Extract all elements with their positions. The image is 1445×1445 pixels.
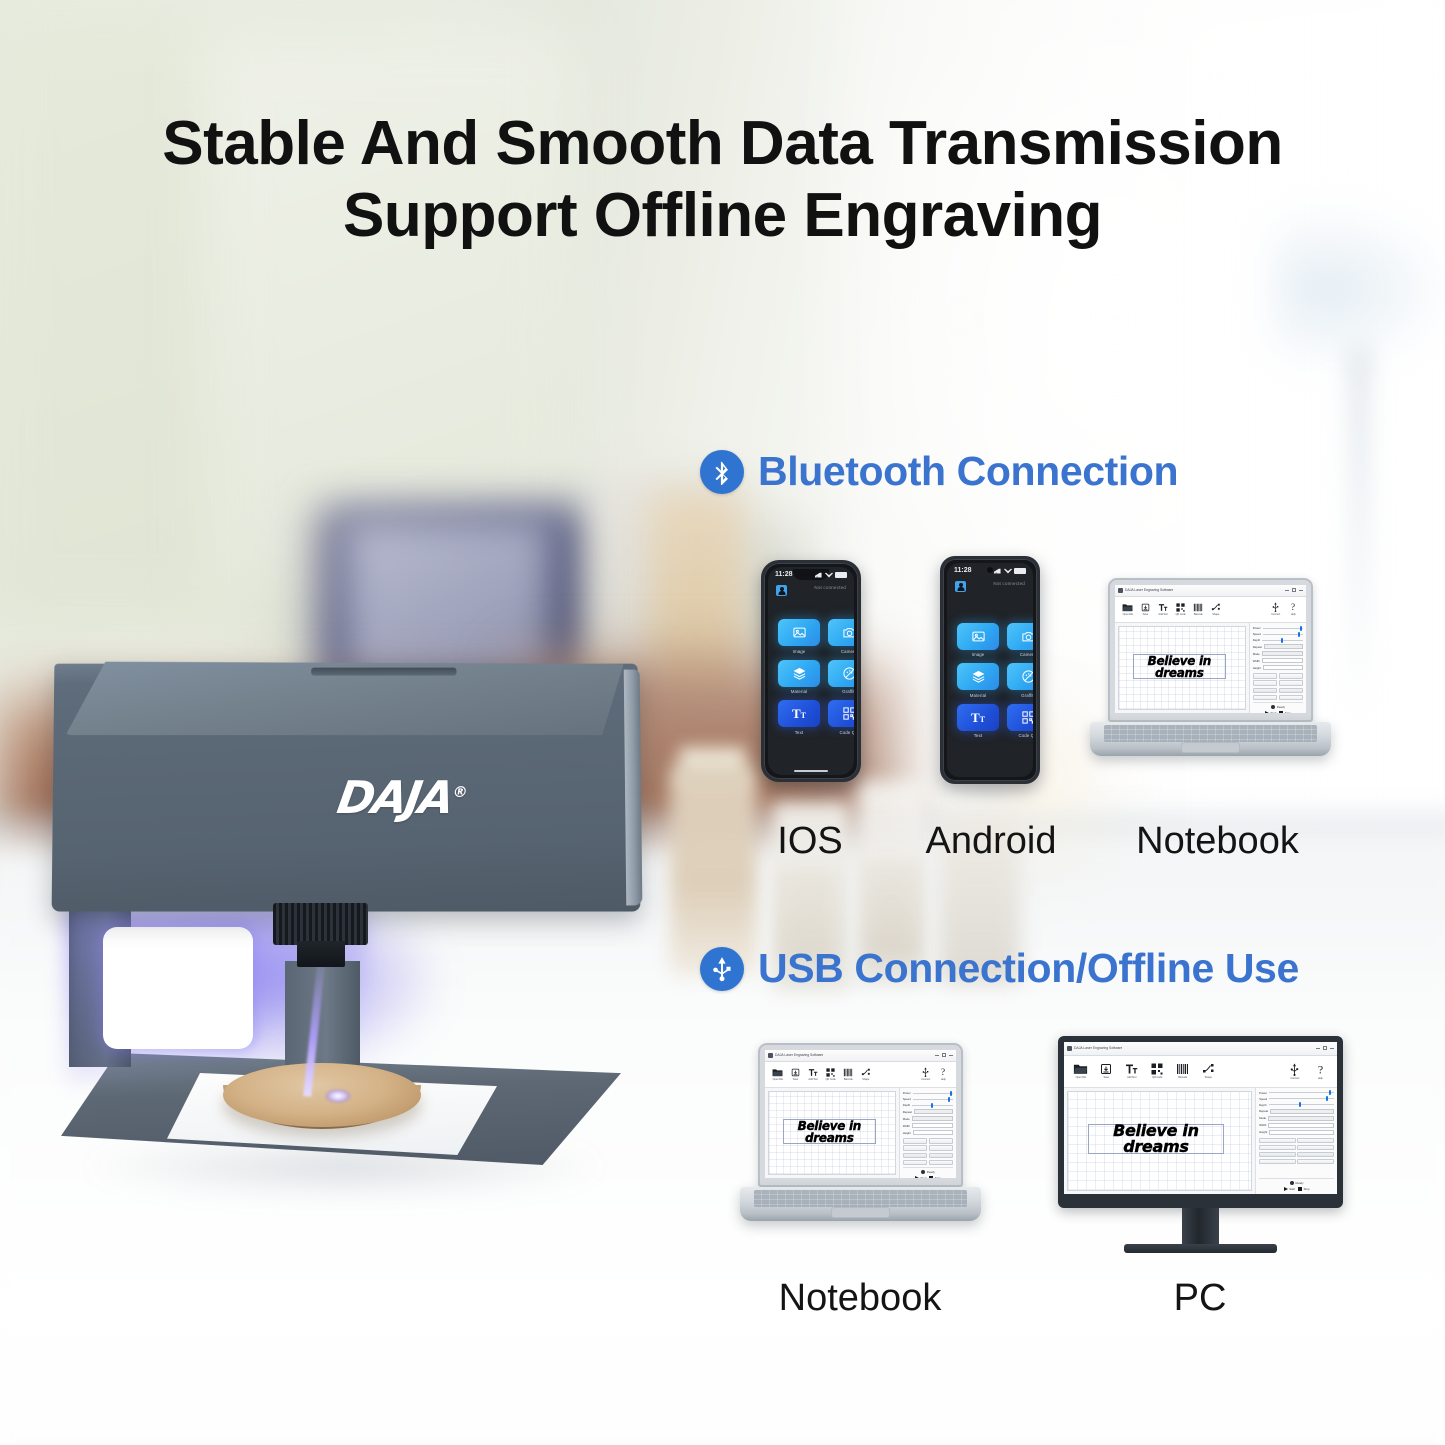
slider-speed[interactable]: Speed [903, 1097, 953, 1101]
slider-speed[interactable]: Speed [1259, 1097, 1334, 1101]
camera-icon [828, 619, 854, 646]
canvas-art-line-2: dreams [1148, 667, 1211, 679]
app-tile-graffiti[interactable]: Graffiti [828, 660, 854, 695]
window-title: DAJA Laser Engraving Software [1074, 1046, 1122, 1050]
qrcode-icon [826, 1068, 835, 1077]
field-mode[interactable]: Mode [903, 1116, 953, 1121]
app-tile-material[interactable]: Material [957, 663, 999, 698]
toolbar-label: Help [1318, 1077, 1323, 1080]
layers-icon [957, 663, 999, 690]
usb-section-label: USB Connection/Offline Use [758, 945, 1299, 992]
toolbar-label: Save [1103, 1076, 1109, 1079]
laptop-trackpad[interactable] [831, 1207, 889, 1218]
panel-button[interactable] [929, 1145, 953, 1151]
toolbar-label: Connect [1271, 613, 1280, 616]
user-avatar-icon[interactable] [955, 581, 966, 592]
app-toolbar: Open File Save Add Text QR Code Barcode … [1115, 597, 1306, 624]
close-icon[interactable] [1330, 1048, 1334, 1049]
status-dot-icon [921, 1170, 925, 1174]
design-canvas[interactable]: Believe in dreams [1118, 626, 1246, 710]
start-label: Start [1271, 711, 1277, 713]
panel-button[interactable] [1253, 680, 1277, 686]
selection-box[interactable]: Believe in dreams [1088, 1124, 1224, 1154]
panel-button[interactable] [1259, 1145, 1296, 1151]
stop-label: Stop [935, 1176, 941, 1178]
toolbar-label: Help [1291, 613, 1296, 616]
stop-label: Stop [1304, 1187, 1310, 1191]
slider-power[interactable]: Power [1259, 1091, 1334, 1095]
close-icon[interactable] [949, 1055, 953, 1056]
stop-button[interactable]: Stop [1279, 711, 1290, 713]
tile-label: Text [974, 733, 982, 738]
toolbar-label: Open File [1076, 1076, 1086, 1079]
play-icon [915, 1176, 919, 1178]
run-status: Ready [1253, 705, 1303, 709]
laptop-base [1090, 722, 1332, 756]
app-tile-material[interactable]: Material [778, 660, 820, 695]
text-icon: TT [957, 704, 999, 731]
node-edit-icon [1211, 603, 1221, 612]
slider-label: Depth [1253, 638, 1260, 642]
run-actions: Start Stop [903, 1176, 953, 1178]
toolbar-add-text[interactable]: Add Text [804, 1068, 822, 1081]
settings-panel: Power Speed Depth Repeat Mode Width Heig… [1255, 1088, 1337, 1194]
app-body: Believe in dreams Power Speed Depth Repe… [1064, 1088, 1337, 1194]
field-label: Width [1259, 1123, 1266, 1127]
node-edit-icon [861, 1068, 871, 1077]
field-label: Width [903, 1124, 910, 1128]
canvas-area: Believe in dreams [1064, 1088, 1255, 1194]
toolbar-help[interactable]: ?Help [1308, 1063, 1333, 1080]
panel-button[interactable] [929, 1160, 953, 1166]
canvas-art-line-2: dreams [798, 1132, 861, 1144]
daja-brand-logo: DAJA® [334, 771, 471, 824]
panel-button[interactable] [1259, 1152, 1296, 1158]
toolbar-label: Barcode [844, 1078, 853, 1081]
app-tile-codeqr[interactable]: Code QR [1007, 704, 1033, 739]
stop-icon [929, 1176, 933, 1178]
section-header-bluetooth: Bluetooth Connection [700, 448, 1178, 495]
toolbar-connect[interactable]: Connect [1267, 602, 1285, 616]
minimize-icon[interactable] [935, 1055, 939, 1056]
toolbar-help[interactable]: ?Help [934, 1067, 952, 1081]
start-button[interactable]: Start [915, 1176, 926, 1178]
palette-icon [828, 660, 854, 687]
brand-text: DAJA [334, 771, 456, 824]
play-icon [1284, 1187, 1288, 1191]
slider-depth[interactable]: Depth [903, 1103, 953, 1107]
run-status-label: Ready [927, 1170, 935, 1174]
trademark-symbol: ® [451, 783, 469, 801]
usb-icon [700, 947, 744, 991]
field-label: Repeat [1259, 1109, 1268, 1113]
run-status-label: Ready [1296, 1181, 1304, 1185]
device-label-pc: PC [1110, 1277, 1290, 1320]
page-title: Stable And Smooth Data Transmission Supp… [0, 108, 1445, 252]
question-icon: ? [1289, 602, 1297, 612]
toolbar-qrcode[interactable]: QR Code [1144, 1063, 1169, 1079]
toolbar-label: Open File [773, 1078, 783, 1081]
engraver-right-edge [624, 670, 643, 906]
notebook-usb-mockup: DAJA Laser Engraving Software Open File … [758, 1043, 963, 1221]
status-bar-time: 11:28 [775, 571, 793, 578]
laser-engraver-product: DAJA® [45, 645, 665, 1215]
stop-icon [1298, 1187, 1302, 1191]
toolbar-label: QR Code [826, 1078, 836, 1081]
app-tile-image[interactable]: Image [778, 619, 820, 654]
usb-icon [1272, 602, 1279, 612]
panel-button[interactable] [903, 1138, 927, 1144]
minimize-icon[interactable] [1316, 1048, 1320, 1049]
text-tool-icon [1125, 1063, 1138, 1075]
field-repeat[interactable]: Repeat [903, 1109, 953, 1114]
canvas-art-line-1: Believe in [1148, 655, 1211, 667]
node-edit-icon [1202, 1063, 1215, 1075]
device-label-ios: IOS [760, 820, 860, 863]
panel-button[interactable] [1297, 1145, 1334, 1151]
minimize-icon[interactable] [1285, 590, 1289, 591]
toolbar-connect[interactable]: Connect [1282, 1063, 1307, 1080]
app-tile-graffiti[interactable]: Graffiti [1007, 663, 1033, 698]
panel-button[interactable] [1297, 1152, 1334, 1158]
engraving-software-window: DAJA Laser Engraving Software Open File … [1115, 585, 1306, 713]
close-icon[interactable] [1299, 590, 1303, 591]
laptop-keyboard[interactable] [1104, 725, 1317, 741]
start-label: Start [1289, 1187, 1295, 1191]
slider-label: Power [903, 1091, 911, 1095]
panel-button[interactable] [1279, 688, 1303, 694]
window-title: DAJA Laser Engraving Software [775, 1053, 823, 1057]
tile-label: Graffiti [842, 689, 854, 694]
toolbar-save[interactable]: Save [1093, 1063, 1118, 1079]
run-actions: Start Stop [1259, 1187, 1334, 1191]
maximize-icon[interactable] [1292, 588, 1296, 592]
headline-line-2: Support Offline Engraving [0, 180, 1445, 252]
engraving-software-window: DAJA Laser Engraving Software Open File … [765, 1050, 956, 1178]
toolbar-label: Connect [1290, 1077, 1299, 1080]
app-header: Not connected [947, 578, 1033, 592]
field-height[interactable]: Height [1259, 1130, 1334, 1135]
app-header: Not connected [768, 582, 854, 596]
panel-button[interactable] [1259, 1159, 1296, 1165]
svg-text:?: ? [1318, 1063, 1323, 1076]
app-tile-grid: Image Camera Material Graffiti TT Text [768, 596, 854, 766]
panel-button[interactable] [1253, 695, 1277, 701]
slider-depth[interactable]: Depth [1253, 638, 1303, 642]
toolbar-save[interactable]: Save [1137, 603, 1155, 616]
app-tile-camera[interactable]: Camera [1007, 623, 1033, 658]
laptop-trackpad[interactable] [1181, 742, 1239, 753]
ios-phone-mockup: 11:28 Not connected Image Camera [761, 560, 861, 782]
run-status: Ready [1259, 1181, 1334, 1185]
download-icon [1100, 1063, 1112, 1075]
app-toolbar: Open File Save Add Text QR Code Barcode … [765, 1062, 956, 1089]
play-icon [1265, 711, 1269, 713]
device-label-android: Android [905, 820, 1077, 863]
monitor-stand-stem [1182, 1208, 1219, 1244]
slider-power[interactable]: Power [903, 1091, 953, 1095]
panel-button[interactable] [1279, 695, 1303, 701]
design-canvas[interactable]: Believe in dreams [1067, 1091, 1252, 1191]
laser-lens-barrel [273, 903, 368, 945]
toolbar-label: Help [941, 1078, 946, 1081]
panel-button[interactable] [1259, 1138, 1296, 1144]
panel-button[interactable] [1279, 673, 1303, 679]
toolbar-open-file[interactable]: Open File [1119, 603, 1137, 616]
app-body: Believe in dreams Power Speed Depth Repe… [765, 1088, 956, 1178]
tile-label: Material [970, 693, 986, 698]
toolbar-shape[interactable]: Shape [1195, 1063, 1220, 1079]
run-panel: Ready Start Stop [1253, 702, 1303, 713]
toolbar-open-file[interactable]: Open File [769, 1068, 787, 1081]
toolbar-barcode[interactable]: Barcode [1170, 1063, 1195, 1079]
question-icon: ? [939, 1067, 947, 1077]
ios-home-indicator [768, 766, 854, 775]
user-avatar-icon[interactable] [776, 585, 787, 596]
field-label: Repeat [1253, 645, 1262, 649]
toolbar-label: QR Code [1176, 613, 1186, 616]
question-icon: ? [1315, 1063, 1326, 1076]
app-icon [768, 1053, 773, 1058]
slider-depth[interactable]: Depth [1259, 1103, 1334, 1107]
panel-button[interactable] [929, 1153, 953, 1159]
run-panel: Ready Start Stop [903, 1167, 953, 1178]
engraver-top-vent [312, 668, 457, 676]
toolbar-help[interactable]: ?Help [1284, 602, 1302, 616]
toolbar-barcode[interactable]: Barcode [839, 1068, 857, 1081]
section-header-usb: USB Connection/Offline Use [700, 945, 1299, 992]
laser-burn-point [325, 1089, 351, 1103]
folder-open-icon [1122, 603, 1133, 612]
toolbar-shape[interactable]: Shape [857, 1068, 875, 1081]
window-controls[interactable] [1316, 1046, 1334, 1050]
run-actions: Start Stop [1253, 711, 1303, 713]
folder-open-icon [772, 1068, 783, 1077]
status-dot-icon [1271, 705, 1275, 709]
toolbar-qrcode[interactable]: QR Code [1172, 603, 1190, 616]
panel-button[interactable] [929, 1138, 953, 1144]
field-label: Mode [1253, 652, 1260, 656]
panel-button[interactable] [903, 1160, 927, 1166]
app-tile-image[interactable]: Image [957, 623, 999, 658]
stop-button[interactable]: Stop [1298, 1187, 1309, 1191]
notebook-bluetooth-mockup: DAJA Laser Engraving Software Open File … [1108, 578, 1313, 756]
android-status-bar: 11:28 [947, 563, 1033, 578]
slider-power[interactable]: Power [1253, 626, 1303, 630]
selection-box[interactable]: Believe in dreams [783, 1119, 876, 1143]
toolbar-connect[interactable]: Connect [917, 1067, 935, 1081]
text-tool-icon [808, 1068, 818, 1077]
toolbar-add-text[interactable]: Add Text [1154, 603, 1172, 616]
design-canvas[interactable]: Believe in dreams [768, 1091, 896, 1175]
panel-button[interactable] [1253, 688, 1277, 694]
canvas-area: Believe in dreams [765, 1088, 899, 1178]
app-tile-camera[interactable]: Camera [828, 619, 854, 654]
field-height[interactable]: Height [903, 1130, 953, 1135]
field-mode[interactable]: Mode [1253, 651, 1303, 656]
panel-button[interactable] [903, 1153, 927, 1159]
slider-label: Speed [1253, 632, 1261, 636]
slider-label: Speed [1259, 1097, 1267, 1101]
field-width[interactable]: Width [903, 1123, 953, 1128]
toolbar-label: Barcode [1194, 613, 1203, 616]
svg-text:?: ? [1291, 602, 1295, 612]
stop-icon [1279, 711, 1283, 713]
window-title: DAJA Laser Engraving Software [1125, 588, 1173, 592]
toolbar-label: Shape [1212, 613, 1219, 616]
device-label-notebook-bt: Notebook [1110, 820, 1325, 863]
panel-button-grid [1259, 1138, 1334, 1165]
window-controls[interactable] [1285, 588, 1303, 592]
start-label: Start [921, 1176, 927, 1178]
toolbar-qrcode[interactable]: QR Code [822, 1068, 840, 1081]
svg-text:?: ? [941, 1067, 945, 1077]
tile-label: Graffiti [1021, 693, 1033, 698]
slider-label: Power [1259, 1091, 1267, 1095]
slider-label: Power [1253, 626, 1261, 630]
run-status-label: Ready [1277, 705, 1285, 709]
engraver-top-face [66, 662, 625, 735]
toolbar-save[interactable]: Save [787, 1068, 805, 1081]
android-phone-mockup: 11:28 Not connected Image Camera [940, 556, 1040, 784]
toolbar-open-file[interactable]: Open File [1068, 1063, 1093, 1079]
app-tile-grid: Image Camera Material Graffiti TT Text [947, 592, 1033, 777]
app-tile-codeqr[interactable]: Code QR [828, 700, 854, 735]
toolbar-label: Add Text [1127, 1076, 1136, 1079]
slider-label: Depth [903, 1103, 910, 1107]
panel-button[interactable] [903, 1145, 927, 1151]
app-tile-text[interactable]: TT Text [778, 700, 820, 735]
download-icon [791, 1068, 800, 1077]
laptop-lid: DAJA Laser Engraving Software Open File … [1108, 578, 1313, 722]
canvas-art-line-1: Believe in [798, 1120, 861, 1132]
monitor-bezel: DAJA Laser Engraving Software Open File … [1058, 1036, 1343, 1208]
tile-label: Code QR [839, 730, 854, 735]
slider-speed[interactable]: Speed [1253, 632, 1303, 636]
field-width[interactable]: Width [1259, 1123, 1334, 1128]
panel-button[interactable] [1297, 1159, 1334, 1165]
barcode-icon [1176, 1063, 1189, 1075]
field-label: Height [1259, 1130, 1267, 1134]
device-label-notebook-usb: Notebook [745, 1277, 975, 1320]
barcode-icon [1193, 603, 1203, 612]
toolbar-label: QR Code [1152, 1076, 1162, 1079]
panel-button-grid [1253, 673, 1303, 700]
download-icon [1141, 603, 1150, 612]
engraving-software-window: DAJA Laser Engraving Software Open File … [1064, 1042, 1337, 1194]
tile-label: Image [972, 652, 985, 657]
run-status: Ready [903, 1170, 953, 1174]
status-bar-time: 11:28 [954, 567, 972, 574]
field-label: Width [1253, 659, 1260, 663]
canvas-art-line-2: dreams [1113, 1139, 1199, 1155]
window-controls[interactable] [935, 1053, 953, 1057]
status-dot-icon [1290, 1181, 1294, 1185]
connection-status: Not connected [814, 585, 846, 590]
tile-label: Image [793, 649, 806, 654]
folder-open-icon [1073, 1063, 1088, 1075]
maximize-icon[interactable] [1323, 1046, 1327, 1050]
window-titlebar: DAJA Laser Engraving Software [765, 1050, 956, 1062]
toolbar-label: Shape [1205, 1076, 1212, 1079]
field-label: Height [1253, 666, 1261, 670]
field-height[interactable]: Height [1253, 665, 1303, 670]
qrcode-icon [828, 700, 854, 727]
bluetooth-icon [700, 450, 744, 494]
usb-icon [922, 1067, 929, 1077]
canvas-area: Believe in dreams [1115, 623, 1249, 713]
toolbar-add-text[interactable]: Add Text [1119, 1063, 1144, 1079]
qrcode-icon [1007, 704, 1033, 731]
panel-button-grid [903, 1138, 953, 1165]
toolbar-label: Open File [1123, 613, 1133, 616]
battery-icon [835, 572, 847, 578]
window-titlebar: DAJA Laser Engraving Software [1115, 585, 1306, 597]
toolbar-shape[interactable]: Shape [1207, 603, 1225, 616]
field-mode[interactable]: Mode [1259, 1116, 1334, 1121]
start-button[interactable]: Start [1265, 711, 1276, 713]
laptop-lid: DAJA Laser Engraving Software Open File … [758, 1043, 963, 1187]
stop-button[interactable]: Stop [929, 1176, 940, 1178]
battery-icon [1014, 568, 1026, 574]
ios-status-bar: 11:28 [768, 567, 854, 582]
laptop-base [740, 1187, 982, 1221]
slider-label: Speed [903, 1097, 911, 1101]
field-width[interactable]: Width [1253, 658, 1303, 663]
app-tile-text[interactable]: TT Text [957, 704, 999, 739]
toolbar-label: Save [793, 1078, 799, 1081]
start-button[interactable]: Start [1284, 1187, 1295, 1191]
signal-icon [994, 568, 1002, 574]
tile-label: Camera [1020, 652, 1033, 657]
field-repeat[interactable]: Repeat [1259, 1109, 1334, 1114]
layers-icon [778, 660, 820, 687]
palette-icon [1007, 663, 1033, 690]
qrcode-icon [1151, 1063, 1163, 1075]
laptop-keyboard[interactable] [754, 1190, 967, 1206]
wood-disc-workpiece [223, 1063, 421, 1127]
usb-icon [1290, 1063, 1299, 1076]
toolbar-label: Add Text [1158, 613, 1167, 616]
app-body: Believe in dreams Power Speed Depth Repe… [1115, 623, 1306, 713]
panel-button[interactable] [1279, 680, 1303, 686]
field-label: Height [903, 1131, 911, 1135]
toolbar-label: Shape [862, 1078, 869, 1081]
panel-button[interactable] [1253, 673, 1277, 679]
toolbar-label: Save [1143, 613, 1149, 616]
qrcode-icon [1176, 603, 1185, 612]
toolbar-label: Barcode [1178, 1076, 1187, 1079]
window-titlebar: DAJA Laser Engraving Software [1064, 1042, 1337, 1056]
field-label: Mode [903, 1117, 910, 1121]
text-icon: TT [778, 700, 820, 727]
run-panel: Ready Start Stop [1259, 1178, 1334, 1191]
headline-line-1: Stable And Smooth Data Transmission [162, 109, 1283, 178]
wifi-icon [825, 572, 833, 578]
selection-box[interactable]: Believe in dreams [1133, 654, 1226, 678]
app-icon [1067, 1046, 1072, 1051]
field-repeat[interactable]: Repeat [1253, 644, 1303, 649]
toolbar-label: Add Text [808, 1078, 817, 1081]
panel-button[interactable] [1297, 1138, 1334, 1144]
laser-lens-tip [297, 941, 345, 967]
toolbar-barcode[interactable]: Barcode [1189, 603, 1207, 616]
maximize-icon[interactable] [942, 1053, 946, 1057]
text-tool-icon [1158, 603, 1168, 612]
signal-icon [815, 572, 823, 578]
tile-label: Code QR [1018, 733, 1033, 738]
pc-monitor-mockup: DAJA Laser Engraving Software Open File … [1058, 1036, 1343, 1253]
